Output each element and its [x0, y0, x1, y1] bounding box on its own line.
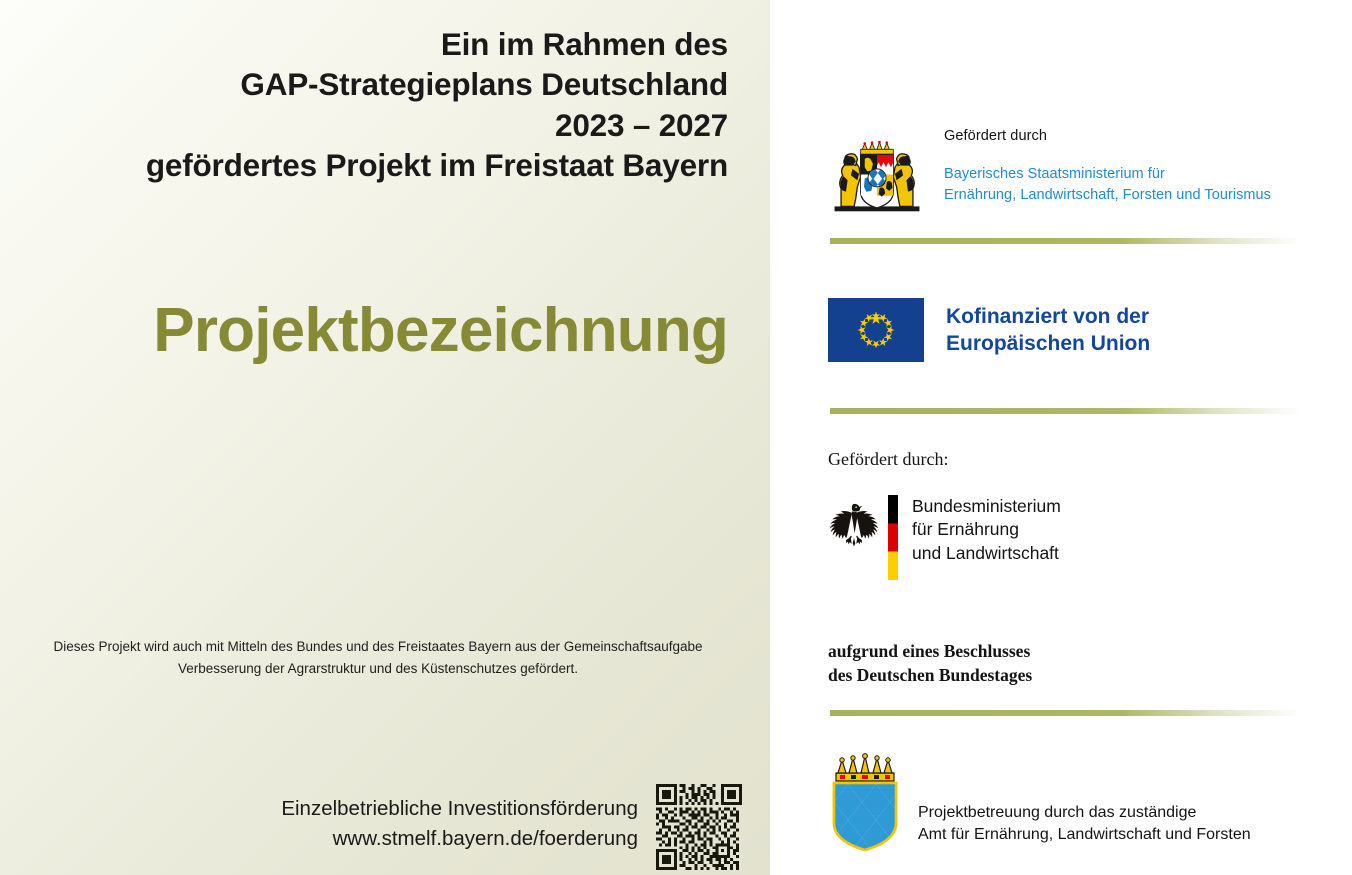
qr-code-icon[interactable] — [656, 784, 742, 870]
bavaria-shield-icon — [828, 753, 902, 853]
funded-by-label-bavaria: Gefördert durch — [944, 128, 1271, 144]
eu-text-line-1: Kofinanziert von der — [946, 303, 1150, 330]
crown — [861, 141, 894, 154]
divider-2 — [830, 408, 1300, 414]
bavaria-ministry-text: Gefördert durch Bayerisches Staatsminist… — [944, 128, 1271, 206]
project-title: Projektbezeichnung — [28, 300, 728, 362]
aelf-block: Projektbetreuung durch das zuständige Am… — [828, 753, 1251, 853]
funded-by-label-federal: Gefördert durch: — [828, 449, 948, 470]
federal-ministry-name-line-1: Bundesministerium — [912, 495, 1061, 518]
german-flag-bar-icon — [888, 495, 898, 580]
bavaria-coat-of-arms-icon — [828, 141, 926, 213]
bundestag-resolution-note: aufgrund eines Beschlusses des Deutschen… — [828, 640, 1032, 687]
eu-cofinanced-text: Kofinanziert von der Europäischen Union — [946, 303, 1150, 358]
federal-ministry-block: Bundesministerium für Ernährung und Land… — [828, 495, 1061, 580]
footer-text: Einzelbetriebliche Investitionsförderung… — [281, 784, 638, 853]
eu-flag-icon — [828, 298, 924, 362]
divider-3 — [830, 710, 1300, 716]
divider-1 — [830, 238, 1300, 244]
gak-funding-note: Dieses Projekt wird auch mit Mitteln des… — [28, 636, 728, 679]
eu-text-line-2: Europäischen Union — [946, 330, 1150, 357]
aelf-text-line-1: Projektbetreuung durch das zuständige — [918, 802, 1251, 824]
federal-ministry-name-line-2: für Ernährung — [912, 518, 1061, 541]
aelf-text: Projektbetreuung durch das zuständige Am… — [918, 760, 1251, 847]
headline-line-1: Ein im Rahmen des — [28, 24, 728, 64]
footer-url[interactable]: www.stmelf.bayern.de/foerderung — [281, 824, 638, 854]
headline-line-4: gefördertes Projekt im Freistaat Bayern — [28, 145, 728, 185]
bundestag-note-line-2: des Deutschen Bundestages — [828, 664, 1032, 688]
bavaria-ministry-block: Gefördert durch Bayerisches Staatsminist… — [828, 128, 1271, 213]
federal-ministry-name-line-3: und Landwirtschaft — [912, 542, 1061, 565]
bavaria-ministry-name-line-2: Ernährung, Landwirtschaft, Forsten und T… — [944, 185, 1271, 206]
headline: Ein im Rahmen des GAP-Strategieplans Deu… — [28, 24, 728, 186]
bundestag-note-line-1: aufgrund eines Beschlusses — [828, 640, 1032, 664]
european-union-block: Kofinanziert von der Europäischen Union — [828, 298, 1150, 362]
federal-eagle-icon — [828, 501, 880, 549]
footer-block: Einzelbetriebliche Investitionsförderung… — [0, 784, 770, 870]
footer-program-label: Einzelbetriebliche Investitionsförderung — [281, 794, 638, 824]
aelf-text-line-2: Amt für Ernährung, Landwirtschaft und Fo… — [918, 824, 1251, 846]
federal-ministry-name: Bundesministerium für Ernährung und Land… — [912, 495, 1061, 565]
headline-line-3: 2023 – 2027 — [28, 105, 728, 145]
right-sponsor-panel: Gefördert durch Bayerisches Staatsminist… — [770, 0, 1352, 875]
bavaria-ministry-name-line-1: Bayerisches Staatsministerium für — [944, 164, 1271, 185]
headline-line-2: GAP-Strategieplans Deutschland — [28, 64, 728, 104]
left-poster-panel: Ein im Rahmen des GAP-Strategieplans Deu… — [0, 0, 770, 875]
